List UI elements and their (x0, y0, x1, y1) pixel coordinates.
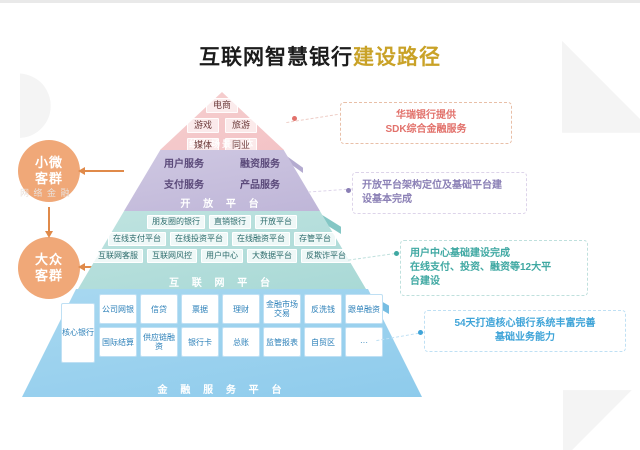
cell-row: 用户服务 融资服务 (159, 158, 285, 172)
cell-item[interactable]: 用户中心 (201, 249, 243, 263)
connector-dot (346, 188, 351, 193)
connector-dot (292, 116, 297, 121)
watermark-bottom-right: ◤ (563, 365, 632, 450)
cell-item[interactable]: 公司网银 (99, 294, 137, 324)
callout-line: 开放平台架构定位及基础平台建 (362, 179, 517, 193)
callout-line: 在线支付、投资、融资等12大平 (410, 261, 578, 275)
callout-open-platform[interactable]: 开放平台架构定位及基础平台建 设基本完成 (352, 172, 527, 214)
callout-line: 台建设 (410, 275, 578, 289)
cell-item[interactable]: 跟单融资 (345, 294, 383, 324)
cell-row: 国际结算 供应链融资 银行卡 总账 监管报表 自贸区 ··· (99, 327, 383, 357)
cell-item[interactable]: 票据 (181, 294, 219, 324)
cell-item[interactable]: 支付服务 (159, 179, 209, 193)
callout-user-center[interactable]: 用户中心基础建设完成 在线支付、投资、融资等12大平 台建设 (400, 240, 588, 296)
cell-item[interactable]: 在线支付平台 (108, 232, 166, 246)
cell-row: 电商 (206, 98, 238, 113)
cell-item[interactable]: 监管报表 (263, 327, 301, 357)
cell-item[interactable]: 国际结算 (99, 327, 137, 357)
tier-internet-platform-cells: 朋友圈的银行 直销银行 开放平台 在线支付平台 在线投资平台 在线融资平台 存管… (78, 215, 366, 266)
slide-canvas: ◗ ◣ ◤ 互联网智慧银行建设路径 小微 客群 大众 客群 网 络 金 融 线上… (0, 0, 640, 450)
callout-line: 54天打造核心银行系统丰富完善 (434, 317, 616, 331)
tier-financial-service-platform-cells: 核心银行 公司网银 信贷 票据 理财 金融市场交易 反洗钱 跟单融资 国际结算 … (22, 294, 422, 363)
cell-item[interactable]: 理财 (222, 294, 260, 324)
callout-line: 用户中心基础建设完成 (410, 247, 578, 261)
core-bank-box[interactable]: 核心银行 (61, 303, 95, 363)
cell-item[interactable]: 反欺诈平台 (301, 249, 351, 263)
tier-online-scene-cells: 电商 游戏 旅游 媒体 同业 (160, 98, 284, 155)
financial-modules-grid: 公司网银 信贷 票据 理财 金融市场交易 反洗钱 跟单融资 国际结算 供应链融资… (99, 294, 383, 357)
cell-item[interactable]: 用户服务 (159, 158, 209, 172)
cell-item[interactable]: 互联网风控 (147, 249, 197, 263)
top-edge-bar (0, 0, 640, 3)
callout-line: 设基本完成 (362, 193, 517, 207)
cell-item[interactable]: 总账 (222, 327, 260, 357)
cell-item[interactable]: 旅游 (225, 118, 257, 133)
cell-item[interactable]: 电商 (206, 98, 238, 113)
cell-row: 朋友圈的银行 直销银行 开放平台 (147, 215, 297, 229)
cell-item[interactable]: 游戏 (187, 118, 219, 133)
title-accent: 建设路径 (353, 46, 441, 69)
cell-item[interactable]: 朋友圈的银行 (147, 215, 205, 229)
watermark-right: ◣ (562, 8, 640, 147)
cell-item[interactable]: 供应链融资 (140, 327, 178, 357)
cell-row: 互联网客服 互联网风控 用户中心 大数据平台 反欺诈平台 (93, 249, 351, 263)
cell-item[interactable]: 反洗钱 (304, 294, 342, 324)
cell-item[interactable]: 开放平台 (255, 215, 297, 229)
cell-item[interactable]: 大数据平台 (247, 249, 297, 263)
cell-item[interactable]: 直销银行 (209, 215, 251, 229)
cell-item[interactable]: 产品服务 (235, 179, 285, 193)
cell-row: 支付服务 产品服务 (159, 179, 285, 193)
tier-open-platform-cells: 用户服务 融资服务 支付服务 产品服务 (124, 158, 320, 200)
callout-line: 基础业务能力 (434, 331, 616, 345)
tier-band-label: 互 联 网 平 台 (78, 273, 366, 289)
cell-item[interactable]: ··· (345, 327, 383, 357)
callout-sdk[interactable]: 华瑞银行提供 SDK综合金融服务 (340, 102, 512, 144)
connector-dot (418, 330, 423, 335)
cell-item[interactable]: 在线投资平台 (170, 232, 228, 246)
page-title: 互联网智慧银行建设路径 (0, 44, 640, 72)
cell-item[interactable]: 自贸区 (304, 327, 342, 357)
cell-item[interactable]: 在线融资平台 (232, 232, 290, 246)
cell-row: 公司网银 信贷 票据 理财 金融市场交易 反洗钱 跟单融资 (99, 294, 383, 324)
title-main: 互联网智慧银行 (199, 46, 353, 69)
tier-band-label: 金 融 服 务 平 台 (22, 379, 422, 397)
connector-dot (394, 251, 399, 256)
cell-item[interactable]: 融资服务 (235, 158, 285, 172)
cell-row: 在线支付平台 在线投资平台 在线融资平台 存管平台 (108, 232, 336, 246)
callout-core-bank[interactable]: 54天打造核心银行系统丰富完善 基础业务能力 (424, 310, 626, 352)
cell-item[interactable]: 存管平台 (294, 232, 336, 246)
callout-line: SDK综合金融服务 (350, 123, 502, 137)
cell-item[interactable]: 金融市场交易 (263, 294, 301, 324)
cell-row: 游戏 旅游 (187, 118, 257, 133)
cell-item[interactable]: 互联网客服 (93, 249, 143, 263)
callout-line: 华瑞银行提供 (350, 109, 502, 123)
cell-item[interactable]: 银行卡 (181, 327, 219, 357)
cell-item[interactable]: 信贷 (140, 294, 178, 324)
